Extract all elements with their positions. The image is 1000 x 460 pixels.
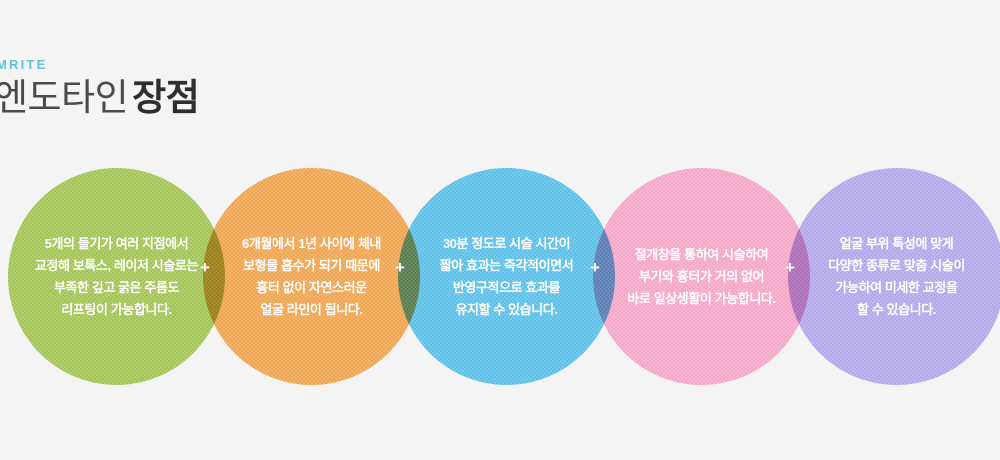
caption-line: 30분 정도로 시술 시간이 — [443, 233, 570, 255]
caption-line: 다양한 종류로 맞춤 시술이 — [828, 255, 965, 277]
page-header: MRITE 엔도타인장점 — [0, 58, 420, 120]
page-title-strong: 장점 — [132, 77, 199, 118]
caption-line: 얼굴 부위 특성에 맞게 — [840, 233, 954, 255]
plus-separator-icon: + — [586, 259, 604, 277]
benefits-venn-diagram: 5개의 돌기가 여러 지점에서 교정해 보톡스, 레이저 시술로는 부족한 깊고… — [0, 160, 1000, 400]
caption-line: 바로 일상생활이 가능합니다. — [627, 288, 775, 310]
caption-line: 5개의 돌기가 여러 지점에서 — [45, 233, 189, 255]
caption-line: 할 수 있습니다. — [857, 299, 936, 321]
caption-line: 리프팅이 가능합니다. — [61, 299, 171, 321]
caption-line: 부기와 흉터가 거의 없어 — [639, 266, 764, 288]
page-title: 엔도타인장점 — [0, 77, 420, 120]
caption-line: 6개월에서 1년 사이에 체내 — [242, 233, 381, 255]
plus-separator-icon: + — [781, 259, 799, 277]
caption-line: 절개창을 통하여 시술하여 — [635, 244, 769, 266]
page-title-light: 엔도타인 — [0, 77, 128, 118]
caption-line: 교정해 보톡스, 레이저 시술로는 — [35, 255, 198, 277]
caption-line: 유지할 수 있습니다. — [455, 299, 557, 321]
caption-line: 부족한 깊고 굵은 주름도 — [54, 277, 179, 299]
caption-line: 짧아 효과는 즉각적이면서 — [440, 255, 574, 277]
plus-separator-icon: + — [196, 259, 214, 277]
benefit-caption-2: 6개월에서 1년 사이에 체내 보형물 흡수가 되기 때문에 흉터 없이 자연스… — [203, 168, 420, 385]
caption-line: 얼굴 라인이 됩니다. — [260, 299, 362, 321]
eyebrow-label: MRITE — [0, 58, 420, 72]
benefit-caption-3: 30분 정도로 시술 시간이 짧아 효과는 즉각적이면서 반영구적으로 효과를 … — [398, 168, 615, 385]
benefit-caption-4: 절개창을 통하여 시술하여 부기와 흉터가 거의 없어 바로 일상생활이 가능합… — [593, 168, 810, 385]
caption-line: 흉터 없이 자연스러운 — [256, 277, 366, 299]
benefit-caption-5: 얼굴 부위 특성에 맞게 다양한 종류로 맞춤 시술이 가능하여 미세한 교정을… — [788, 168, 1000, 385]
caption-line: 보형물 흡수가 되기 때문에 — [243, 255, 380, 277]
caption-line: 반영구적으로 효과를 — [453, 277, 560, 299]
caption-line: 가능하여 미세한 교정을 — [835, 277, 957, 299]
plus-separator-icon: + — [391, 259, 409, 277]
benefit-caption-1: 5개의 돌기가 여러 지점에서 교정해 보톡스, 레이저 시술로는 부족한 깊고… — [8, 168, 225, 385]
